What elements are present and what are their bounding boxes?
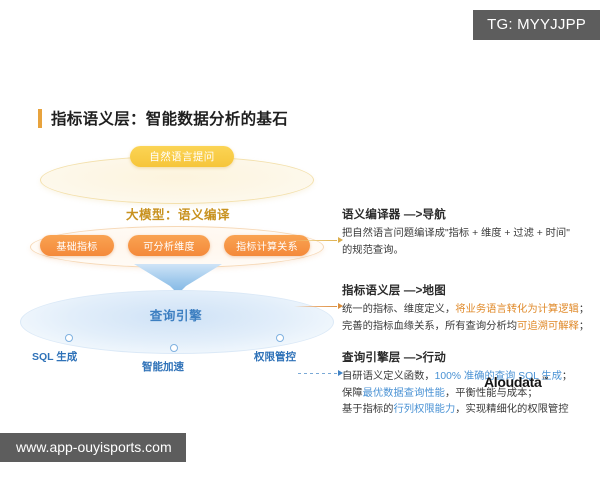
site-url-watermark-badge: www.app-ouyisports.com (0, 433, 186, 462)
plain-text: 把自然语言问题编译成"指标 + 维度 + 过滤 + 时间" (342, 228, 570, 239)
label-query-engine: 查询引擎 (18, 305, 334, 324)
plain-text: ； (579, 321, 589, 332)
logo-wordmark: Aloudata (484, 374, 542, 390)
pill-base-metric: 基础指标 (40, 235, 114, 256)
block-heading: 指标语义层 —>地图 (342, 282, 594, 298)
pill-natural-language-question: 自然语言提问 (130, 146, 234, 167)
connector-line (290, 240, 337, 241)
page-title: 指标语义层：智能数据分析的基石 (38, 107, 288, 129)
highlight-blue: 最优数据查询性能 (363, 388, 445, 399)
block-body: 统一的指标、维度定义，将业务语言转化为计算逻辑；完善的指标血缘关系，所有查询分析… (342, 302, 594, 335)
connector-arrow-query-engine (298, 368, 343, 378)
title-text: 指标语义层：智能数据分析的基石 (51, 107, 288, 129)
node-label-intelligent-acceleration: 智能加速 (142, 359, 184, 374)
block-text-line: 保障最优数据查询性能，平衡性能与成本； (342, 386, 594, 403)
plain-text: 统一的指标、维度定义， (342, 304, 455, 315)
connector-line (298, 373, 337, 374)
node-dot-intelligent-acceleration (170, 344, 178, 352)
node-dot-sql-generation (65, 334, 73, 342)
highlight-orange: 将业务语言转化为计算逻辑 (455, 304, 579, 315)
node-label-sql-generation: SQL 生成 (32, 349, 77, 364)
block-text-line: 基于指标的行列权限能力，实现精细化的权限管控 (342, 402, 594, 419)
plain-text: ，实现精细化的权限管控 (455, 404, 568, 415)
logo-trademark-icon: ™ (542, 376, 549, 383)
block-text-line: 的规范查询。 (342, 243, 594, 260)
highlight-blue: 行列权限能力 (393, 404, 455, 415)
slide-canvas: 指标语义层：智能数据分析的基石 自然语言提问 大模型：语义编译 基础指标 可分析… (0, 60, 600, 415)
aloudata-logo: Aloudata™ (484, 374, 548, 390)
connector-arrow-semantic-layer (294, 301, 343, 311)
telegram-watermark-badge: TG: MYYJJPP (473, 10, 600, 40)
block-text-line: 把自然语言问题编译成"指标 + 维度 + 过滤 + 时间" (342, 226, 594, 243)
block-body: 把自然语言问题编译成"指标 + 维度 + 过滤 + 时间"的规范查询。 (342, 226, 594, 259)
block-heading: 语义编译器 —>导航 (342, 206, 594, 222)
plain-text: ； (579, 304, 589, 315)
block-text-line: 统一的指标、维度定义，将业务语言转化为计算逻辑； (342, 302, 594, 319)
label-large-model-semantic-compile: 大模型：语义编译 (18, 204, 338, 223)
title-accent-bar (38, 109, 42, 128)
plain-text: 完善的指标血缘关系，所有查询分析均 (342, 321, 517, 332)
highlight-orange: 可追溯可解释 (517, 321, 579, 332)
block-text-line: 完善的指标血缘关系，所有查询分析均可追溯可解释； (342, 319, 594, 336)
node-dot-permission-control (276, 334, 284, 342)
block-text-line: 自研语义定义函数，100% 准确的查询 SQL 生成； (342, 369, 594, 386)
block-heading: 查询引擎层 —>行动 (342, 349, 594, 365)
node-label-permission-control: 权限管控 (254, 349, 296, 364)
block-body: 自研语义定义函数，100% 准确的查询 SQL 生成；保障最优数据查询性能，平衡… (342, 369, 594, 419)
description-block-query-engine: 查询引擎层 —>行动 自研语义定义函数，100% 准确的查询 SQL 生成；保障… (342, 349, 594, 419)
plain-text: ； (562, 371, 572, 382)
description-block-semantic-layer: 指标语义层 —>地图 统一的指标、维度定义，将业务语言转化为计算逻辑；完善的指标… (342, 282, 594, 335)
plain-text: 基于指标的 (342, 404, 393, 415)
plain-text: 自研语义定义函数， (342, 371, 435, 382)
architecture-diagram: 自然语言提问 大模型：语义编译 基础指标 可分析维度 指标计算关系 查询引擎 S… (18, 142, 338, 412)
connector-arrow-compiler (290, 235, 343, 245)
pill-analyzable-dimension: 可分析维度 (128, 235, 210, 256)
plain-text: 的规范查询。 (342, 245, 404, 256)
description-block-compiler: 语义编译器 —>导航 把自然语言问题编译成"指标 + 维度 + 过滤 + 时间"… (342, 206, 594, 259)
connector-line (294, 306, 337, 307)
plain-text: 保障 (342, 388, 363, 399)
